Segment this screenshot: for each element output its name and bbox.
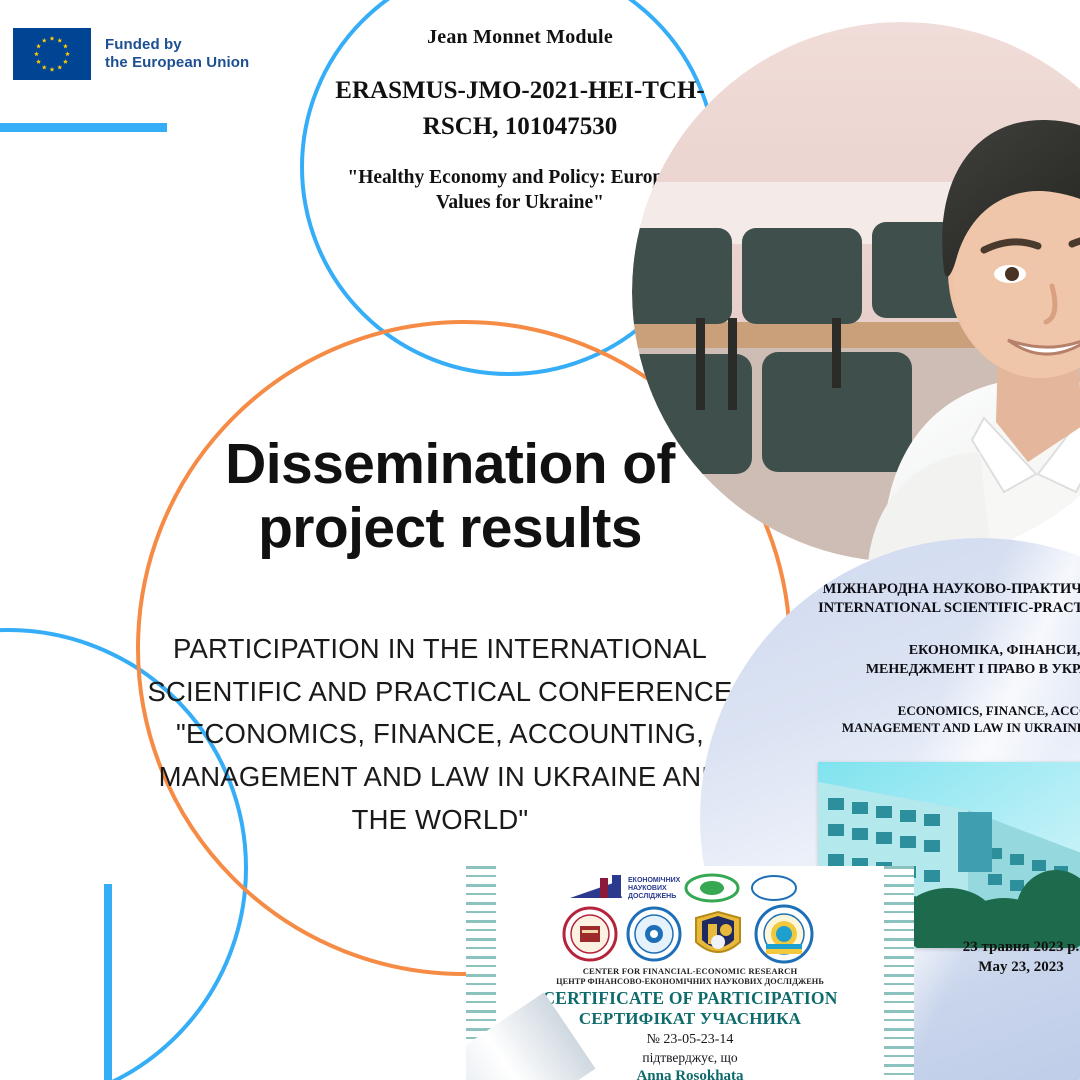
slide-canvas: Funded by the European Union Jean Monnet…: [0, 0, 1080, 1080]
cover-topic-uk-2: МЕНЕДЖМЕНТ І ПРАВО В УКРАЇНІ ТА СВІТІ: [806, 661, 1080, 680]
decorative-vertical-line-blue: [104, 884, 112, 1080]
certificate-border-right: [884, 866, 914, 1080]
svg-text:НАУКОВИХ: НАУКОВИХ: [628, 885, 667, 892]
eu-funding-line1: Funded by: [105, 36, 249, 54]
decorative-bar-blue: [0, 123, 167, 132]
eu-flag-icon: [13, 28, 91, 80]
partner-logo-row-icon: ЕКОНОМІЧНИХ НАУКОВИХ ДОСЛІДЖЕНЬ: [562, 872, 818, 964]
certificate-partner-logos: ЕКОНОМІЧНИХ НАУКОВИХ ДОСЛІДЖЕНЬ: [562, 872, 818, 964]
certificate-center-uk: ЦЕНТР ФІНАНСОВО-ЕКОНОМІЧНИХ НАУКОВИХ ДОС…: [506, 977, 874, 986]
module-label: Jean Monnet Module: [330, 26, 710, 49]
eu-funding-emblem: Funded by the European Union: [13, 28, 249, 80]
certificate-title-en: CERTIFICATE OF PARTICIPATION: [506, 988, 874, 1009]
cover-topic-en-1: ECONOMICS, FINANCE, ACCOUNTING,: [806, 702, 1080, 719]
eu-flag-stars-icon: [13, 28, 91, 80]
cover-header-uk: МІЖНАРОДНА НАУКОВО-ПРАКТИЧНА КОНФЕРЕНЦІЯ: [806, 580, 1080, 599]
eu-funding-label: Funded by the European Union: [105, 36, 249, 73]
slide-headline: Dissemination of project results: [150, 432, 750, 561]
slide-subtitle: PARTICIPATION IN THE INTERNATIONAL SCIEN…: [130, 628, 750, 841]
participation-certificate: ЕКОНОМІЧНИХ НАУКОВИХ ДОСЛІДЖЕНЬ: [466, 866, 914, 1080]
cover-topic-en-2: MANAGEMENT AND LAW IN UKRAINE AND THE WO…: [806, 719, 1080, 736]
cover-topic-uk-1: ЕКОНОМІКА, ФІНАНСИ, ОБЛІК,: [806, 642, 1080, 661]
svg-text:ДОСЛІДЖЕНЬ: ДОСЛІДЖЕНЬ: [628, 893, 676, 900]
svg-text:ЕКОНОМІЧНИХ: ЕКОНОМІЧНИХ: [628, 877, 681, 884]
certificate-organisation: CENTER FOR FINANCIAL-ECONOMIC RESEARCH Ц…: [506, 966, 874, 986]
module-grant-number: ERASMUS-JMO-2021-HEI-TCH-RSCH, 101047530: [330, 73, 710, 144]
certificate-center-en: CENTER FOR FINANCIAL-ECONOMIC RESEARCH: [506, 966, 874, 976]
cover-header-en: INTERNATIONAL SCIENTIFIC-PRACTICAL CONFE…: [806, 599, 1080, 618]
eu-funding-line2: the European Union: [105, 54, 249, 72]
